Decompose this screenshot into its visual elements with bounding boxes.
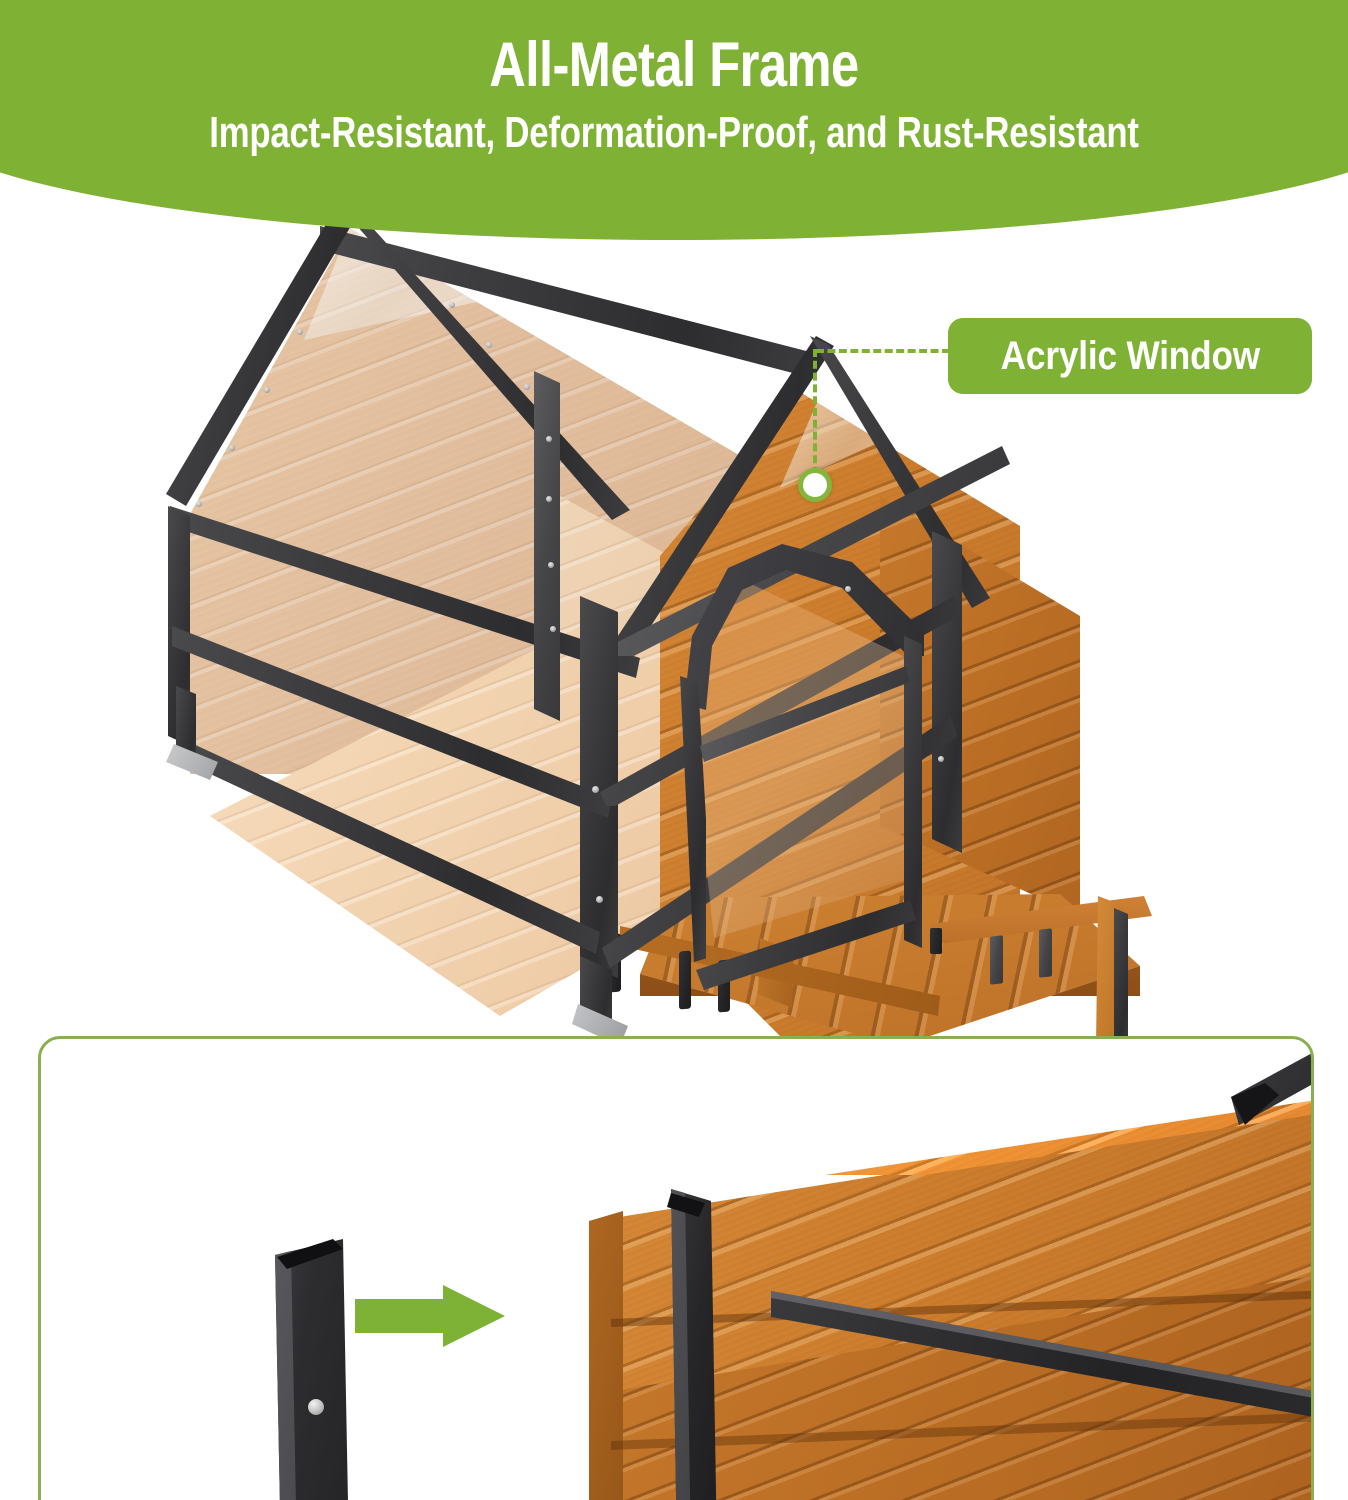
arrow-head (443, 1285, 505, 1347)
frame-screw-hole (550, 626, 556, 632)
frame-screw-hole (546, 496, 552, 502)
frame-screw-hole (449, 302, 455, 308)
product-feature-page: All-Metal Frame Impact-Resistant, Deform… (0, 0, 1348, 1500)
frame-screw-hole (196, 501, 202, 507)
frame-screw-hole (845, 586, 851, 592)
door-hinge (930, 928, 942, 954)
detail-panel-scene (41, 1039, 1311, 1500)
banner-title: All-Metal Frame (135, 34, 1213, 97)
frame-screw-hole (297, 329, 303, 335)
detail-panel (38, 1036, 1314, 1500)
frame-post-interior (534, 371, 564, 731)
callout-leader-horizontal (816, 349, 950, 353)
post-screw-icon (308, 1399, 324, 1415)
callout-label-text: Acrylic Window (1000, 334, 1259, 379)
banner-text-group: All-Metal Frame Impact-Resistant, Deform… (0, 0, 1348, 155)
frame-screw-hole (524, 384, 530, 390)
frame-screw-hole (486, 342, 492, 348)
frame-post-right (932, 531, 966, 861)
callout-leader-vertical (813, 349, 817, 475)
install-direction-arrow-icon (355, 1285, 505, 1347)
callout-label-pill: Acrylic Window (948, 318, 1312, 394)
arrow-shaft (355, 1299, 451, 1333)
banner-subtitle: Impact-Resistant, Deformation-Proof, and… (142, 111, 1207, 155)
callout-marker-dot-icon (798, 468, 832, 502)
frame-screw-hole (229, 445, 235, 451)
railing-post-2 (1039, 928, 1052, 977)
railing-post-1 (990, 935, 1003, 984)
loose-metal-post (251, 1239, 361, 1500)
header-banner: All-Metal Frame Impact-Resistant, Deform… (0, 0, 1348, 240)
frame-screw-hole (596, 896, 603, 903)
frame-screw-hole (546, 436, 552, 442)
frame-screw-hole (548, 562, 554, 568)
underdeck-pin-1 (679, 950, 691, 1009)
frame-screw-hole (938, 756, 944, 762)
frame-screw-hole (264, 387, 270, 393)
frame-screw-hole (592, 786, 599, 793)
